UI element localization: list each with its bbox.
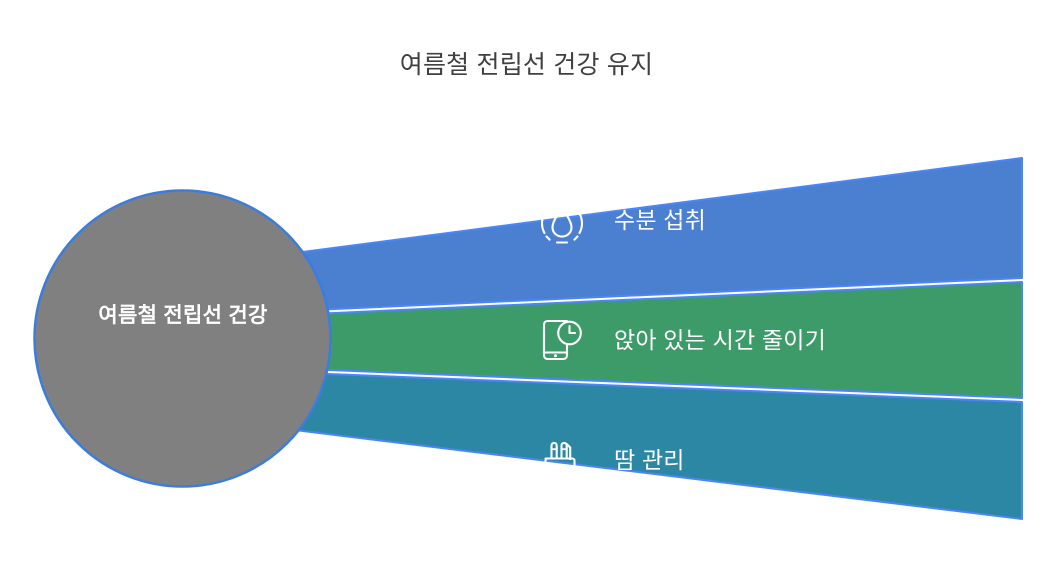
pocket-pens-icon — [536, 434, 588, 486]
branch-row-water[interactable]: 수분 섭취 — [536, 185, 706, 255]
branch-label-sitting: 앉아 있는 시간 줄이기 — [614, 325, 826, 355]
funnel-diagram — [0, 0, 1053, 588]
water-drop-gauge-icon — [536, 194, 588, 246]
branch-row-sweat[interactable]: 땀 관리 — [536, 425, 685, 495]
branch-row-sitting[interactable]: 앉아 있는 시간 줄이기 — [536, 305, 826, 375]
branch-label-sweat: 땀 관리 — [614, 445, 685, 475]
smartphone-clock-icon — [536, 314, 588, 366]
branch-label-water: 수분 섭취 — [614, 205, 706, 235]
hub-circle[interactable] — [35, 191, 331, 487]
diagram-canvas: 여름철 전립선 건강 유지 여름철 전립선 건강 수분 섭취 — [0, 0, 1053, 588]
